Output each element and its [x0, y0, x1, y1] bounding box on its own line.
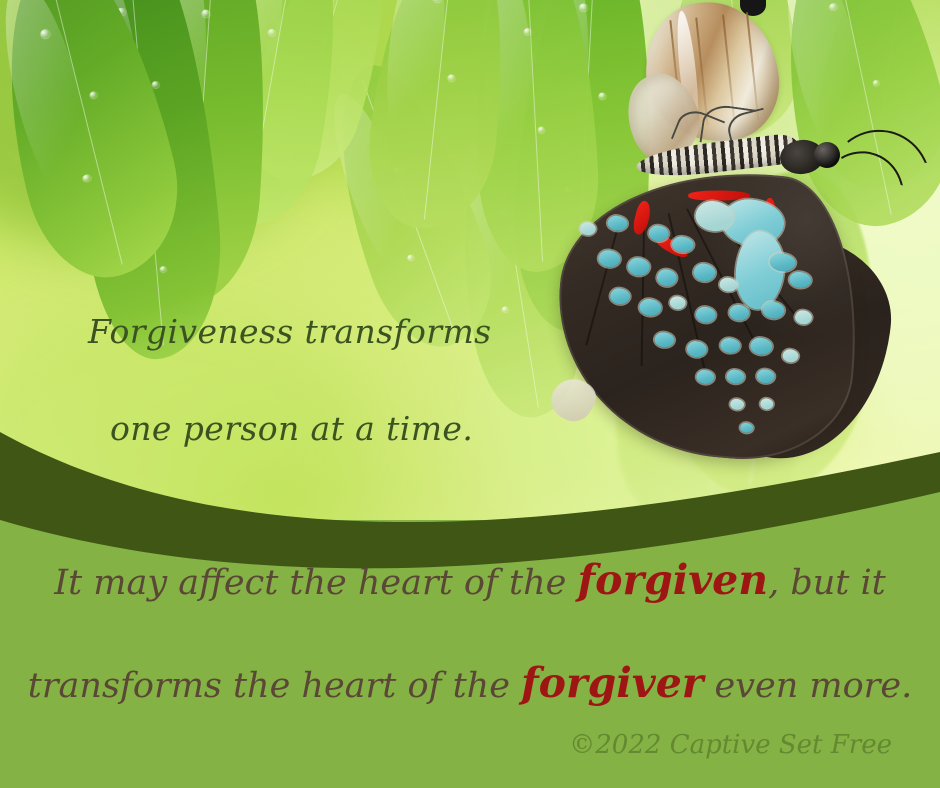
bottom-quote-line-1-before: It may affect the heart of the: [54, 563, 577, 603]
bottom-quote-line-2-before: transforms the heart of the: [28, 666, 521, 706]
bottom-quote-line-2: transforms the heart of the forgiver eve…: [0, 663, 940, 704]
highlight-forgiver: forgiver: [521, 659, 703, 707]
bottom-quote-line-1-after: , but it: [768, 563, 886, 603]
top-quote: Forgiveness transforms one person at a t…: [0, 312, 620, 448]
top-quote-line-1: Forgiveness transforms: [0, 312, 620, 351]
copyright-notice: ©2022 Captive Set Free: [569, 730, 892, 760]
quote-card: Forgiveness transforms one person at a t…: [0, 0, 940, 788]
highlight-forgiven: forgiven: [578, 556, 769, 604]
bottom-quote-line-1: It may affect the heart of the forgiven,…: [0, 560, 940, 601]
bottom-quote-line-2-after: even more.: [703, 666, 912, 706]
bottom-quote: It may affect the heart of the forgiven,…: [0, 560, 940, 704]
top-quote-line-2: one person at a time.: [0, 409, 620, 448]
